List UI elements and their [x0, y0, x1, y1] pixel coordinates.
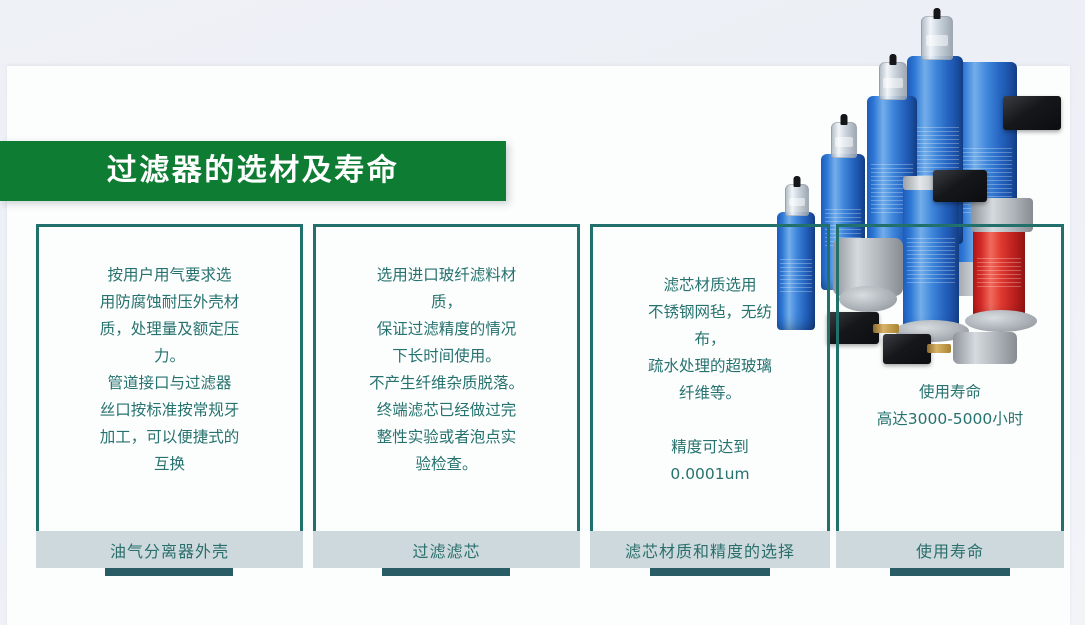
- card-body-text-2: 选用进口玻纤滤料材 质， 保证过滤精度的情况 下长时间使用。 不产生纤维杂质脱落…: [323, 262, 570, 478]
- card-body-text-3: 滤芯材质选用 不锈钢网毡，无纺 布， 疏水处理的超玻璃 纤维等。 精度可达到 0…: [600, 272, 820, 488]
- card-body-text-4: 使用寿命 高达3000-5000小时: [846, 379, 1054, 433]
- footer-label-1: 油气分离器外壳: [110, 538, 229, 562]
- footer-bar-1[interactable]: 油气分离器外壳: [36, 531, 303, 568]
- footer-label-4: 使用寿命: [916, 538, 984, 562]
- footer-label-3: 滤芯材质和精度的选择: [625, 538, 795, 562]
- footer-underline-4: [890, 568, 1010, 576]
- page-title: 过滤器的选材及寿命: [107, 156, 400, 186]
- footer-bar-4[interactable]: 使用寿命: [836, 531, 1064, 568]
- footer-underline-1: [105, 568, 233, 576]
- feature-columns: 按用户用气要求选 用防腐蚀耐压外壳材 质，处理量及额定压 力。 管道接口与过滤器…: [0, 0, 1085, 625]
- footer-bar-3[interactable]: 滤芯材质和精度的选择: [590, 531, 830, 568]
- slide-title-banner: 过滤器的选材及寿命: [0, 141, 506, 201]
- footer-label-2: 过滤滤芯: [412, 538, 480, 562]
- footer-underline-2: [382, 568, 510, 576]
- slide-root: { "page": { "background_color": "#eef1f6…: [0, 0, 1085, 625]
- footer-bar-2[interactable]: 过滤滤芯: [313, 531, 580, 568]
- footer-underline-3: [650, 568, 770, 576]
- card-body-text-1: 按用户用气要求选 用防腐蚀耐压外壳材 质，处理量及额定压 力。 管道接口与过滤器…: [46, 262, 293, 478]
- card-border-4: [836, 224, 1064, 531]
